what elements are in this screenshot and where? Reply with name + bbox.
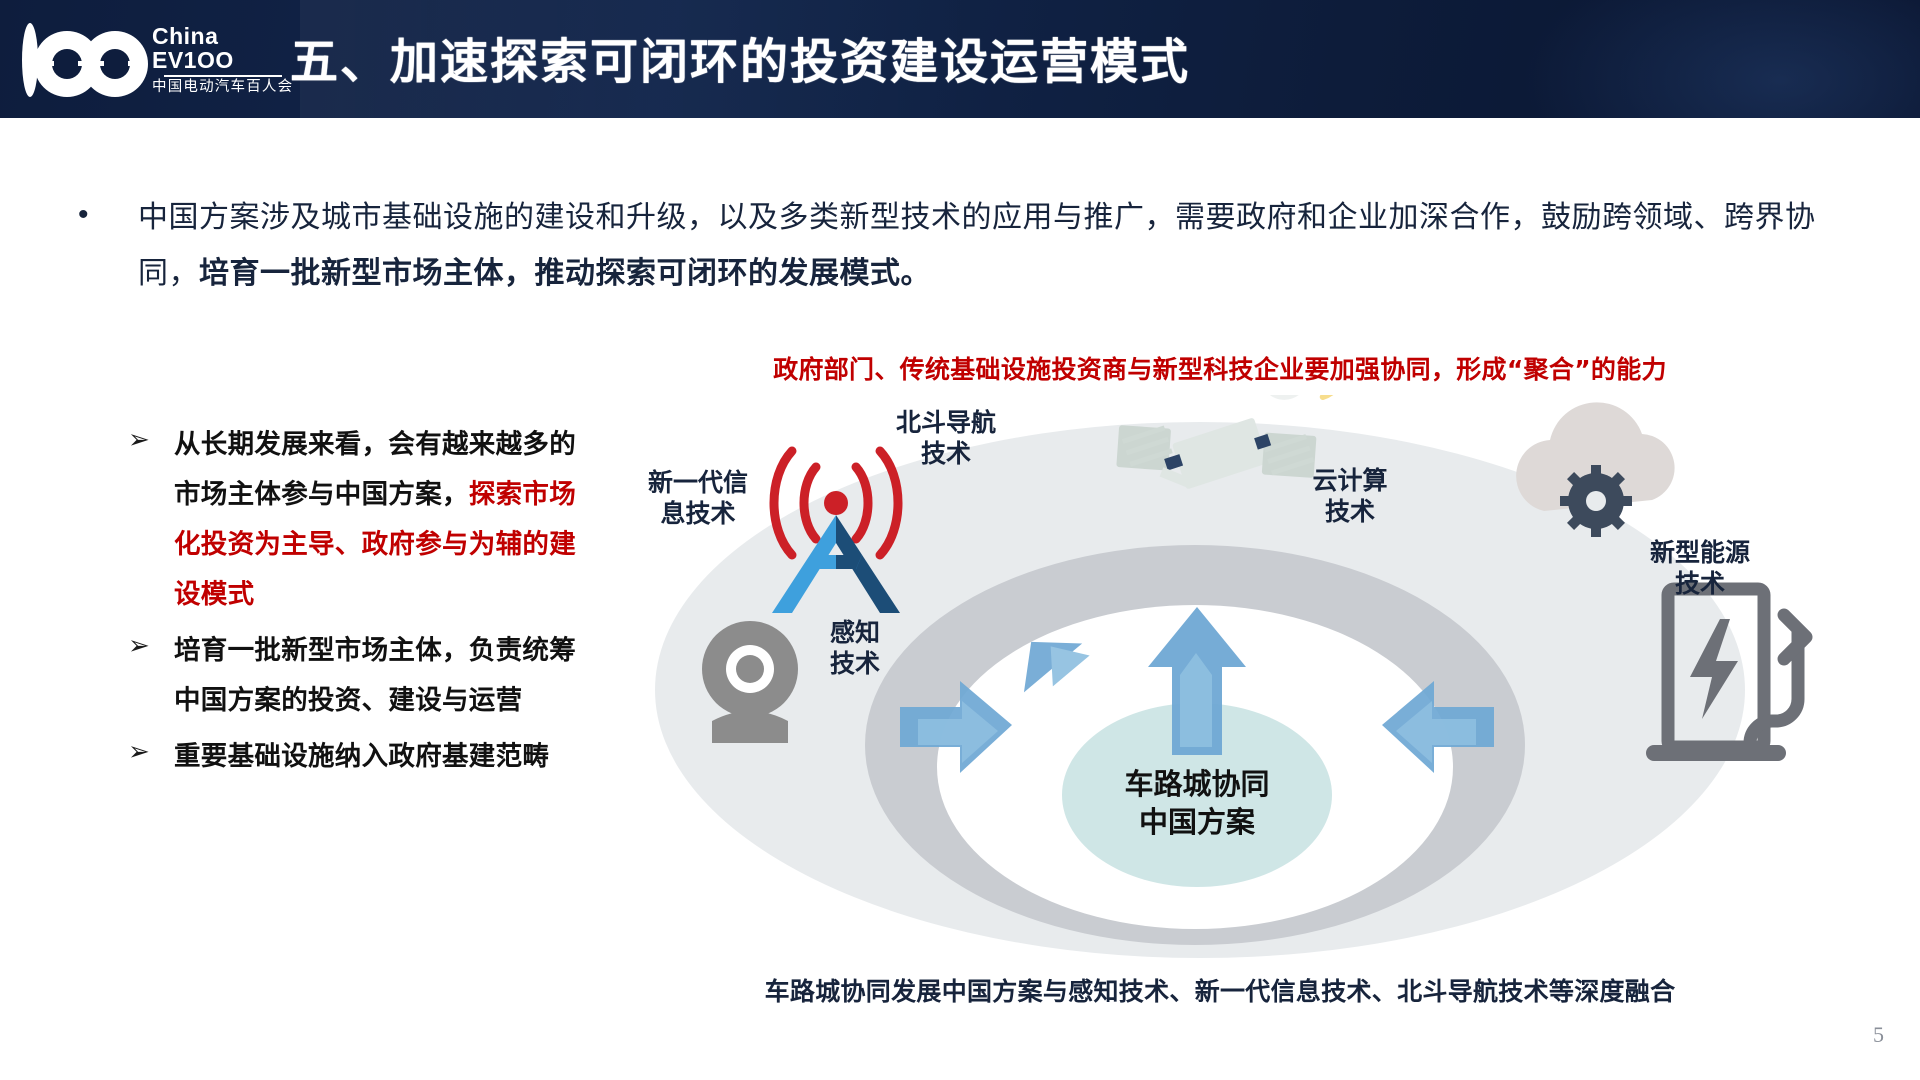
node-label-info-tech: 新一代信 息技术	[608, 467, 788, 529]
figure-heading: 政府部门、传统基础设施投资商与新型科技企业要加强协同，形成“聚合”的能力	[600, 350, 1840, 386]
figure-svg	[600, 395, 1890, 985]
lead-bullet-marker: •	[78, 200, 89, 230]
figure-caption: 车路城协同发展中国方案与感知技术、新一代信息技术、北斗导航技术等深度融合	[600, 972, 1840, 1008]
node-label-sensing: 感知 技术	[800, 617, 910, 679]
slide-title: 五、加速探索可闭环的投资建设运营模式	[290, 22, 1190, 92]
brand-logo-rule	[164, 75, 282, 77]
node-label-new-energy: 新型能源 技术	[1610, 537, 1790, 599]
arrow-bullet-icon: ➢	[128, 426, 156, 454]
list-item: ➢ 从长期发展来看，会有越来越多的市场主体参与中国方案，探索市场化投资为主导、政…	[128, 420, 598, 620]
figure-canvas: 新一代信 息技术 北斗导航 技术 云计算 技术 新型能源 技术 感知 技术 车路…	[600, 395, 1890, 985]
lead-line-1: 中国方案涉及城市基础设施的建设和升级，以及多类新型技术的应用与推广，需要政府和企…	[138, 200, 1541, 235]
list-item: ➢ 培育一批新型市场主体，负责统筹中国方案的投资、建设与运营	[128, 626, 598, 726]
technology-convergence-figure: 政府部门、传统基础设施投资商与新型科技企业要加强协同，形成“聚合”的能力	[600, 350, 1890, 1050]
node-label-beidou: 北斗导航 技术	[856, 407, 1036, 469]
list-item: ➢ 重要基础设施纳入政府基建范畴	[128, 732, 598, 782]
camera-sensor-icon	[702, 621, 798, 743]
brand-logo-chinese: 中国电动汽车百人会	[152, 80, 293, 96]
list-item-text: 培育一批新型市场主体，负责统筹中国方案的投资、建设与运营	[174, 626, 598, 726]
slide-root: China EV1OO 中国电动汽车百人会 五、加速探索可闭环的投资建设运营模式…	[0, 0, 1920, 1080]
list-item-text: 重要基础设施纳入政府基建范畴	[174, 732, 598, 782]
arrow-bullet-icon: ➢	[128, 632, 156, 660]
brand-logo: China EV1OO 中国电动汽车百人会	[18, 14, 280, 106]
list-item-plain: 培育一批新型市场主体，负责统筹中国方案的投资、建设与运营	[174, 635, 576, 716]
key-points-list: ➢ 从长期发展来看，会有越来越多的市场主体参与中国方案，探索市场化投资为主导、政…	[128, 420, 598, 788]
arrow-bullet-icon: ➢	[128, 738, 156, 766]
china-ev100-logo-icon	[18, 16, 148, 104]
lead-paragraph: • 中国方案涉及城市基础设施的建设和升级，以及多类新型技术的应用与推广，需要政府…	[78, 190, 1848, 302]
center-label-china-plan: 车路城协同 中国方案	[1047, 765, 1347, 841]
lead-paragraph-text: 中国方案涉及城市基础设施的建设和升级，以及多类新型技术的应用与推广，需要政府和企…	[138, 190, 1848, 302]
lead-line-2-bold: 培育一批新型市场主体，推动探索可闭环的发展模式。	[199, 256, 931, 291]
list-item-plain: 重要基础设施纳入政府基建范畴	[174, 741, 549, 772]
page-number: 5	[1873, 1022, 1884, 1048]
list-item-text: 从长期发展来看，会有越来越多的市场主体参与中国方案，探索市场化投资为主导、政府参…	[174, 420, 598, 620]
slide-header: China EV1OO 中国电动汽车百人会 五、加速探索可闭环的投资建设运营模式	[0, 0, 1920, 118]
brand-logo-text: China EV1OO 中国电动汽车百人会	[152, 24, 293, 96]
node-label-cloud: 云计算 技术	[1260, 465, 1440, 527]
brand-logo-english: China EV1OO	[152, 24, 293, 72]
